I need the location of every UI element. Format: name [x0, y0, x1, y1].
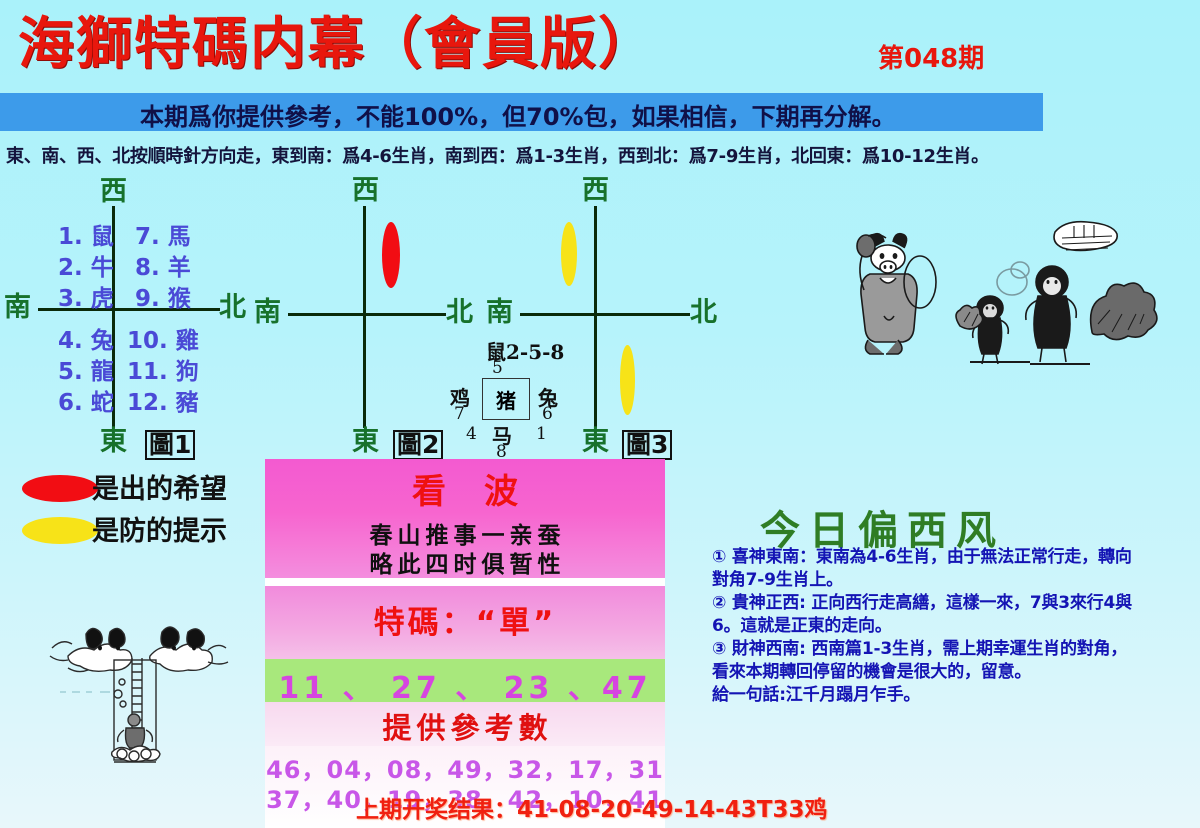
fig2-dir-north: 西 — [352, 177, 379, 205]
legend-red-label: 是出的希望 — [92, 467, 227, 506]
well-cartoon-svg — [38, 604, 254, 774]
magic-square-center-box: 猪 — [482, 378, 530, 420]
fig3-label: 圖3 — [622, 430, 672, 460]
zodiac-item: 3. 虎 — [58, 284, 114, 315]
green-numbers: 11 、 27 、 23 、47 — [265, 663, 665, 707]
tema-line: 特碼：“單” — [265, 597, 665, 642]
fig1-zodiac-col-1: 1. 鼠 2. 牛 3. 虎 — [58, 222, 114, 315]
kanbo-title: 看波 — [265, 464, 665, 513]
panel-divider — [265, 578, 665, 586]
tema-band: 特碼：“單” — [265, 586, 665, 659]
zodiac-item: 12. 豬 — [127, 388, 199, 419]
cartoon-well-and-birds-illustration — [38, 604, 254, 774]
legend-yellow-label: 是防的提示 — [92, 509, 227, 548]
wind-line-6: 看來本期轉回停留的機會是很大的，留意。 — [712, 661, 1194, 684]
issue-number: 第048期 — [878, 38, 984, 75]
zodiac-item: 5. 龍 — [58, 357, 114, 388]
reference-title: 提供參考數 — [265, 705, 665, 747]
fig2-label: 圖2 — [393, 430, 443, 460]
last-draw-result: 上期开奖结果：41-08-20-49-14-43T33鸡 — [356, 790, 827, 824]
wind-line-1: ① 喜神東南：東南為4-6生肖，由于無法正常行走，轉向 — [712, 546, 1194, 569]
fig2-dir-east: 北 — [446, 299, 473, 327]
cartoon-svg — [840, 212, 1160, 367]
zodiac-item: 8. 羊 — [135, 253, 191, 284]
zodiac-item: 10. 雞 — [127, 326, 199, 357]
zodiac-item: 4. 兔 — [58, 326, 114, 357]
magic-square-center-label: 猪 — [496, 385, 516, 414]
green-numbers-band: 11 、 27 、 23 、47 — [265, 659, 665, 702]
zodiac-item: 9. 猴 — [135, 284, 191, 315]
wind-line-4: 6。這就是正東的走向。 — [712, 615, 1194, 638]
fig3-label-text: 圖3 — [622, 430, 672, 460]
fig3-vertical-axis — [594, 206, 597, 428]
fig1-dir-north: 西 — [100, 178, 127, 206]
figure-1: 西 東 南 北 1. 鼠 2. 牛 3. 虎 7. 馬 8. 羊 9. 猴 4.… — [0, 180, 250, 460]
fig3-yellow-oval-top — [561, 222, 577, 286]
fig2-label-text: 圖2 — [393, 430, 443, 460]
legend-red-oval — [22, 475, 98, 502]
fig2-dir-south: 東 — [352, 428, 379, 456]
fig3-horizontal-axis — [520, 313, 690, 316]
fig3-dir-east: 北 — [690, 299, 717, 327]
fig2-vertical-axis — [363, 206, 366, 428]
fig1-dir-south: 東 — [100, 428, 127, 456]
wind-line-3: ② 貴神正西: 正向西行走高繕，這樣一來，7與3來行4與 — [712, 592, 1194, 615]
fig3-yellow-oval-bottom — [620, 345, 635, 415]
zodiac-item: 11. 狗 — [127, 357, 199, 388]
wind-line-7: 給一句話:江千月蹋月乍手。 — [712, 684, 1194, 707]
poster-root: 海獅特碼内幕（會員版） 第048期 本期爲你提供參考，不能100%，但70%包，… — [0, 0, 1200, 828]
cartoon-cow-and-apes-illustration — [840, 212, 1160, 367]
fig1-zodiac-col-4: 10. 雞 11. 狗 12. 豬 — [127, 326, 199, 419]
wind-line-2: 對角7-9生肖上。 — [712, 569, 1194, 592]
magic-square-right-number: 6 — [542, 404, 553, 424]
fig1-label: 圖1 — [145, 430, 195, 460]
zodiac-item: 6. 蛇 — [58, 388, 114, 419]
zodiac-item: 7. 馬 — [135, 222, 191, 253]
fig3-dir-north: 西 — [582, 177, 609, 205]
fig1-zodiac-col-2: 7. 馬 8. 羊 9. 猴 — [135, 222, 191, 315]
kanbo-band: 看波 春山推事一亲蚕 略此四时俱暂性 — [265, 459, 665, 578]
page-title: 海獅特碼内幕（會員版） — [18, 14, 656, 76]
reference-title-band: 提供參考數 — [265, 702, 665, 746]
wind-line-5: ③ 財神西南: 西南篇1-3生肖，需上期幸運生肖的對角， — [712, 638, 1194, 661]
poem-line-2: 略此四时俱暂性 — [265, 545, 665, 579]
fig2-red-oval-marker — [382, 222, 400, 288]
fig1-dir-west: 南 — [4, 294, 31, 322]
forecast-panel: 看波 春山推事一亲蚕 略此四时俱暂性 特碼：“單” 11 、 27 、 23 、… — [265, 459, 665, 828]
magic-square-bottom-right-number: 1 — [536, 424, 547, 444]
fig2-horizontal-axis — [288, 313, 446, 316]
banner-text: 本期爲你提供參考，不能100%，但70%包，如果相信，下期再分解。 — [140, 97, 1040, 132]
magic-square-top-number: 5 — [492, 358, 503, 378]
fig1-zodiac-col-3: 4. 兔 5. 龍 6. 蛇 — [58, 326, 114, 419]
legend-yellow-oval — [22, 517, 98, 544]
fig1-dir-east: 北 — [219, 294, 246, 322]
magic-square-left-number: 7 — [454, 404, 465, 424]
fig2-dir-west: 南 — [254, 299, 281, 327]
fig3-dir-west: 南 — [486, 299, 513, 327]
legend: 是出的希望 是防的提示 — [0, 465, 262, 575]
direction-rule-text: 東、南、西、北按順時針方向走，東到南：爲4-6生肖，南到西：爲1-3生肖，西到北… — [6, 142, 1196, 168]
zodiac-item: 2. 牛 — [58, 253, 114, 284]
magic-square: 鼠2-5-8 5 鸡 7 猪 兔 6 4 马 1 8 — [448, 336, 588, 446]
zodiac-item: 1. 鼠 — [58, 222, 114, 253]
magic-square-bottom-left-number: 4 — [466, 424, 477, 444]
fig1-label-text: 圖1 — [145, 430, 195, 460]
